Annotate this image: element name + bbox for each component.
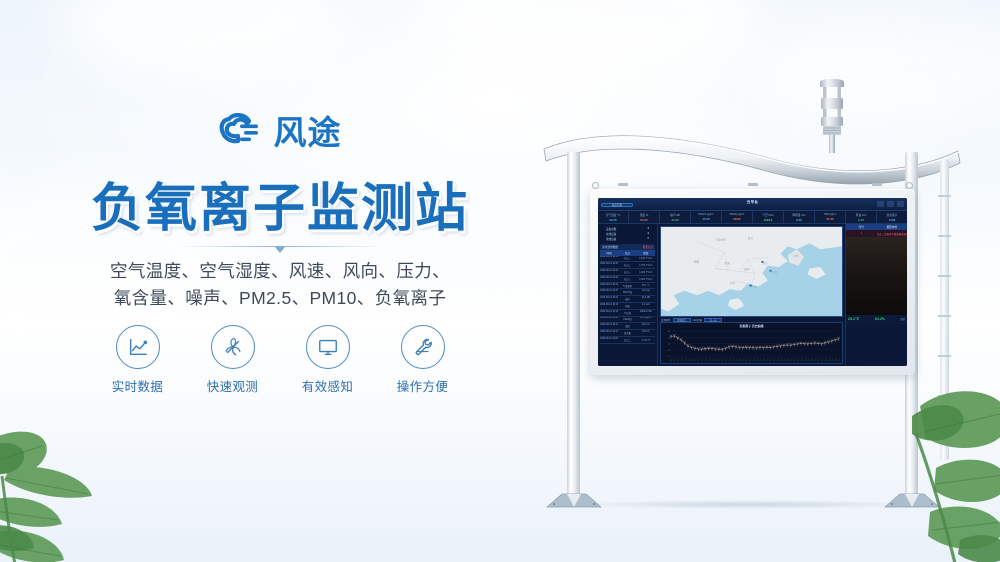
table-row[interactable]: 2023-06-12 10:18风速2.4 m/s	[600, 303, 655, 310]
svg-text:06-12: 06-12	[804, 358, 807, 363]
svg-text:乌鲁木齐: 乌鲁木齐	[715, 238, 726, 242]
svg-text:0: 0	[669, 356, 670, 358]
alert-cell: 站点二 负氧离子数值偏低报警	[877, 230, 908, 236]
video-reading-1: 23.1℃	[848, 317, 859, 321]
table-cell: 2023-06-12 10:18	[600, 303, 618, 309]
svg-text:青海: 青海	[724, 261, 730, 265]
svg-text:50: 50	[668, 343, 670, 345]
subtitle-line-1: 空气温度、空气湿度、风速、风向、压力、	[0, 258, 560, 285]
metric-card[interactable]: 空气温度 ℃23.15	[598, 211, 629, 223]
svg-text:06-12: 06-12	[687, 358, 690, 363]
svg-text:06-12: 06-12	[698, 358, 701, 363]
svg-text:06-12: 06-12	[763, 358, 766, 363]
table-cell: 18.0 μg	[637, 289, 655, 295]
dashboard-title: 云平台	[598, 200, 907, 205]
history-line-chart[interactable]: 负氧离子 历史曲线 100755025006-1206-1206-1206-12…	[660, 322, 843, 364]
kpi-label: 在线设备	[606, 232, 616, 236]
divider-triangle-icon	[275, 247, 285, 253]
svg-text:云南: 云南	[730, 281, 736, 285]
metric-card[interactable]: 湿度 %64.20	[629, 211, 660, 223]
hanger-ring	[592, 182, 599, 189]
metric-card[interactable]: PM10 μg/m³28.00	[722, 211, 753, 223]
toolbar-icon[interactable]	[877, 201, 884, 207]
feature-label: 快速观测	[207, 376, 259, 395]
metric-value: 23.15	[609, 218, 616, 222]
svg-text:日本: 日本	[793, 254, 799, 258]
kpi-label: 设备总数	[606, 227, 616, 231]
table-cell: 2023-06-12 10:08	[600, 337, 618, 343]
alert-cell: 1	[846, 230, 877, 236]
table-row[interactable]: 2023-06-12 10:28站点一1,693 个/cm³	[600, 269, 655, 276]
table-cell: 气压值	[618, 310, 636, 316]
mount-bracket	[748, 183, 758, 186]
table-row[interactable]: 2023-06-12 10:14PM10值28.0 μg/m³	[600, 317, 655, 324]
monitor-screen-icon	[306, 325, 350, 369]
subtitle-line-2: 氧含量、噪声、PM2.5、PM10、负氧离子	[0, 285, 560, 312]
feature-label: 操作方便	[397, 376, 449, 395]
table-row[interactable]: 2023-06-12 10:16气压值1003.2 hPa	[600, 310, 655, 317]
kpi-value: 3	[648, 227, 649, 231]
table-cell: 64.2 %	[637, 323, 655, 329]
kpi-list: 设备总数3在线设备3离线设备0	[600, 226, 655, 242]
metric-value: 17.00	[702, 217, 709, 221]
feature-label: 有效感知	[302, 376, 354, 395]
svg-text:100: 100	[668, 331, 671, 333]
metric-value: 28.00	[733, 217, 740, 221]
table-cell: 2023-06-12 10:24	[600, 283, 618, 289]
metric-name: 湿度 %	[640, 213, 649, 217]
svg-text:06-12: 06-12	[674, 358, 677, 363]
svg-text:06-12: 06-12	[814, 358, 817, 363]
alert-body: 1站点二 负氧离子数值偏低报警	[846, 230, 907, 236]
svg-text:06-12: 06-12	[787, 358, 790, 363]
svg-text:06-12: 06-12	[718, 358, 721, 363]
metric-value: 0.00	[796, 218, 802, 222]
table-caption-text: 实时监测数据	[602, 245, 618, 249]
table-row[interactable]: 2023-06-12 10:10氧含量20.9 %	[600, 330, 655, 337]
table-cell: 2023-06-12 10:26	[600, 276, 618, 282]
kpi-item: 离线设备0	[600, 236, 655, 241]
metric-value: 64.20	[640, 218, 647, 222]
dashboard-toolbar	[877, 201, 904, 207]
svg-text:06-12: 06-12	[756, 358, 759, 363]
table-row[interactable]: 2023-06-12 10:20噪声41.6 dB	[600, 296, 655, 303]
table-cell: 41.6 dB	[637, 296, 655, 302]
table-cell: 2023-06-12 10:32	[600, 256, 618, 262]
rail-notch	[938, 195, 951, 197]
dashboard-header: 站点名称 云平台	[598, 198, 907, 211]
metric-card[interactable]: PM2.5 μg/m³17.00	[691, 211, 722, 223]
brand-name: 风途	[274, 116, 342, 149]
feature-label: 实时数据	[112, 376, 164, 395]
svg-text:广州: 广州	[752, 285, 758, 289]
svg-text:上海: 上海	[771, 270, 777, 274]
table-cell: 站点一	[618, 256, 636, 262]
svg-text:06-12: 06-12	[708, 358, 711, 363]
table-row[interactable]: 2023-06-12 10:32站点一1,876 个/cm³	[600, 256, 655, 263]
metric-card[interactable]: 噪声 dB41.60	[660, 211, 691, 223]
rail-notch	[938, 355, 951, 357]
video-footer: 23.1℃ 64.2% 全屏	[846, 315, 907, 324]
base-plate-icon	[545, 492, 603, 509]
right-panel: 序号报警内容 1站点二 负氧离子数值偏低报警 23.1℃ 64.2% 全屏	[845, 224, 907, 366]
table-body: 2023-06-12 10:32站点一1,876 个/cm³2023-06-12…	[600, 256, 655, 344]
table-cell: 1003.2 hPa	[637, 310, 655, 316]
title-divider	[180, 246, 380, 253]
monitoring-station-product: 站点名称 云平台 空气温度 ℃23.15湿度 %64.20噪声 dB41.60P…	[520, 60, 980, 540]
mount-bracket	[872, 183, 882, 186]
metric-value: 1003.2	[764, 218, 773, 222]
metric-name: 噪声 dB	[670, 213, 679, 217]
line-chart-icon	[116, 325, 160, 369]
brand-lockup: 风途	[0, 112, 560, 152]
left-data-panel: 设备总数3在线设备3离线设备0 实时监测数据 报警信息 时间站点数值 2023-…	[598, 224, 658, 366]
hanger-ring	[906, 182, 913, 189]
rail-notch	[938, 235, 951, 237]
svg-text:06-12: 06-12	[704, 358, 707, 363]
svg-text:06-12: 06-12	[728, 358, 731, 363]
china-map[interactable]: 乌鲁木齐 蒙古 西藏 青海 陕西 北京 上海 云南 广州 日本	[660, 226, 843, 317]
svg-text:06-12: 06-12	[752, 358, 755, 363]
table-row[interactable]: 2023-06-12 10:30站点二1,754 个/cm³	[600, 262, 655, 269]
table-cell: 2023-06-12 10:20	[600, 296, 618, 302]
svg-text:75: 75	[668, 337, 670, 339]
metric-name: PM2.5 μg/m³	[698, 213, 713, 216]
table-cell: 23.1 ℃	[637, 283, 655, 289]
kpi-label: 离线设备	[606, 237, 616, 241]
alert-row[interactable]: 1站点二 负氧离子数值偏低报警	[846, 230, 907, 236]
metric-value: 1736	[889, 218, 895, 222]
hero-subtitle: 空气温度、空气湿度、风速、风向、压力、 氧含量、噪声、PM2.5、PM10、负氧…	[0, 258, 560, 311]
wrench-icon	[401, 325, 445, 369]
svg-text:06-12: 06-12	[725, 358, 728, 363]
svg-text:06-12: 06-12	[824, 358, 827, 363]
svg-text:25: 25	[668, 350, 670, 352]
svg-text:06-12: 06-12	[831, 358, 834, 363]
svg-text:06-12: 06-12	[835, 358, 838, 363]
support-pole-icon	[567, 152, 580, 507]
metric-name: 空气温度 ℃	[606, 213, 621, 217]
metric-value: 37.00	[826, 217, 833, 221]
svg-text:06-12: 06-12	[749, 358, 752, 363]
svg-text:06-12: 06-12	[797, 358, 800, 363]
svg-text:06-12: 06-12	[828, 358, 831, 363]
feature-item-fast-observation[interactable]: 快速观测	[202, 325, 264, 395]
table-cell: 2023-06-12 10:16	[600, 310, 618, 316]
rail-notch	[938, 275, 951, 277]
feature-item-realtime-data[interactable]: 实时数据	[107, 325, 169, 395]
svg-text:06-12: 06-12	[745, 358, 748, 363]
svg-text:06-12: 06-12	[766, 358, 769, 363]
table-cell: PM10值	[618, 317, 636, 323]
svg-text:06-12: 06-12	[769, 358, 772, 363]
svg-text:06-12: 06-12	[739, 358, 742, 363]
table-row[interactable]: 2023-06-12 10:12湿度64.2 %	[600, 323, 655, 330]
metric-value: 2.40	[858, 218, 864, 222]
svg-text:06-12: 06-12	[821, 358, 824, 363]
table-cell: 2.4 m/s	[637, 303, 655, 309]
metric-value: 41.60	[671, 218, 678, 222]
svg-text:06-12: 06-12	[691, 358, 694, 363]
hero-text-panel: 风途 负氧离子监测站 空气温度、空气湿度、风速、风向、压力、 氧含量、噪声、PM…	[0, 0, 560, 562]
metric-strip: 空气温度 ℃23.15湿度 %64.20噪声 dB41.60PM2.5 μg/m…	[598, 211, 907, 224]
svg-text:06-12: 06-12	[715, 358, 718, 363]
table-cell: 20.9 %	[637, 330, 655, 336]
display-screen[interactable]: 站点名称 云平台 空气温度 ℃23.15湿度 %64.20噪声 dB41.60P…	[598, 198, 907, 366]
table-cell: 1,876 个/cm³	[637, 256, 655, 262]
metric-card[interactable]: 风速 m/s2.40	[846, 211, 877, 223]
table-row[interactable]: 2023-06-12 10:24气象要素23.1 ℃	[600, 283, 655, 290]
filter-select-1[interactable]: 负氧离子	[673, 318, 691, 322]
table-cell: 1,602 个/cm³	[637, 276, 655, 282]
svg-text:06-12: 06-12	[742, 358, 745, 363]
metric-name: 负氧离子	[887, 213, 898, 217]
monitoring-dashboard: 站点名称 云平台 空气温度 ℃23.15湿度 %64.20噪声 dB41.60P…	[598, 198, 907, 366]
metric-name: 降雨量 mm	[792, 213, 805, 217]
feature-item-easy-operation[interactable]: 操作方便	[392, 325, 454, 395]
svg-text:06-12: 06-12	[811, 358, 814, 363]
svg-text:06-12: 06-12	[711, 358, 714, 363]
radar-signal-icon	[211, 325, 255, 369]
metric-name: 风速 m/s	[856, 213, 866, 217]
toolbar-icon[interactable]	[897, 201, 904, 207]
svg-text:06-12: 06-12	[677, 358, 680, 363]
dashboard-body: 设备总数3在线设备3离线设备0 实时监测数据 报警信息 时间站点数值 2023-…	[598, 224, 907, 366]
svg-text:06-12: 06-12	[759, 358, 762, 363]
table-row[interactable]: 2023-06-12 10:26站点三1,602 个/cm³	[600, 276, 655, 283]
svg-text:06-12: 06-12	[783, 358, 786, 363]
svg-text:蒙古: 蒙古	[748, 236, 754, 240]
display-bezel: 站点名称 云平台 空气温度 ℃23.15湿度 %64.20噪声 dB41.60P…	[590, 189, 915, 375]
table-cell: 1,754 个/cm³	[637, 262, 655, 268]
svg-text:06-12: 06-12	[694, 358, 697, 363]
metric-name: TSP μg/m³	[824, 213, 837, 216]
center-panel: 乌鲁木齐 蒙古 西藏 青海 陕西 北京 上海 云南 广州 日本	[658, 224, 845, 366]
svg-text:06-12: 06-12	[817, 358, 820, 363]
svg-text:06-12: 06-12	[838, 358, 841, 363]
kpi-value: 3	[648, 232, 649, 236]
metric-card[interactable]: 负氧离子1736	[877, 211, 907, 223]
svg-text:06-12: 06-12	[701, 358, 704, 363]
svg-text:西藏: 西藏	[694, 260, 700, 264]
wave-canopy-icon	[542, 127, 962, 189]
svg-text:06-12: 06-12	[735, 358, 738, 363]
filter-label-2: 时间范围	[693, 318, 703, 322]
svg-text:06-12: 06-12	[773, 358, 776, 363]
feature-item-effective-sensing[interactable]: 有效感知	[297, 325, 359, 395]
ground-shadow	[570, 500, 925, 509]
cloud-wind-logo-icon	[219, 112, 265, 152]
table-cell: 2023-06-12 10:30	[600, 262, 618, 268]
svg-text:06-12: 06-12	[670, 358, 673, 363]
svg-text:06-12: 06-12	[680, 358, 683, 363]
metric-card[interactable]: 气压 hPa1003.2	[753, 211, 784, 223]
filter-select-2[interactable]: 近一天	[704, 318, 722, 322]
support-rail	[940, 160, 949, 460]
table-cell: 站点一	[618, 269, 636, 275]
svg-text:06-12: 06-12	[776, 358, 779, 363]
video-feed[interactable]	[846, 237, 907, 315]
svg-text:06-12: 06-12	[684, 358, 687, 363]
svg-text:06-12: 06-12	[807, 358, 810, 363]
table-cell: 噪声	[618, 296, 636, 302]
page-title: 负氧离子监测站	[0, 166, 560, 241]
table-cell: 气象要素	[618, 283, 636, 289]
mount-bracket	[618, 183, 628, 186]
kpi-value: 0	[648, 237, 649, 241]
table-cell: 站点三	[618, 276, 636, 282]
rail-notch	[938, 315, 951, 317]
table-cell: 2023-06-12 10:14	[600, 317, 618, 323]
table-caption-status: 报警信息	[643, 245, 653, 249]
table-cell: PM2.5值	[618, 289, 636, 295]
toolbar-icon[interactable]	[887, 201, 894, 207]
table-cell: 2023-06-12 10:28	[600, 269, 618, 275]
table-row[interactable]: 2023-06-12 10:22PM2.5值18.0 μg	[600, 289, 655, 296]
table-cell: 风速	[618, 303, 636, 309]
metric-name: 气压 hPa	[763, 213, 774, 217]
table-row[interactable]: 2023-06-12 10:08站点二1,712 个	[600, 337, 655, 344]
metric-card[interactable]: 降雨量 mm0.00	[784, 211, 815, 223]
rail-notch	[938, 395, 951, 397]
metric-card[interactable]: TSP μg/m³37.00	[815, 211, 846, 223]
metric-name: PM10 μg/m³	[730, 213, 745, 216]
svg-text:06-12: 06-12	[793, 358, 796, 363]
table-cell: 1,712 个	[637, 337, 655, 343]
table-cell: 2023-06-12 10:22	[600, 289, 618, 295]
svg-text:06-12: 06-12	[790, 358, 793, 363]
table-cell: 氧含量	[618, 330, 636, 336]
video-fullscreen-button[interactable]: 全屏	[900, 317, 905, 321]
table-cell: 站点二	[618, 262, 636, 268]
video-reading-2: 64.2%	[875, 317, 885, 321]
table-cell: 2023-06-12 10:10	[600, 330, 618, 336]
filter-label-1: 监测要素	[661, 318, 671, 322]
feature-list: 实时数据 快速观测	[0, 325, 560, 395]
table-cell: 站点二	[618, 337, 636, 343]
table-cell: 2023-06-12 10:12	[600, 323, 618, 329]
svg-text:06-12: 06-12	[721, 358, 724, 363]
table-cell: 湿度	[618, 323, 636, 329]
table-cell: 28.0 μg/m³	[637, 317, 655, 323]
table-cell: 1,693 个/cm³	[637, 269, 655, 275]
svg-text:陕西: 陕西	[744, 267, 750, 271]
svg-text:06-12: 06-12	[780, 358, 783, 363]
svg-text:06-12: 06-12	[732, 358, 735, 363]
base-plate-icon	[883, 492, 941, 509]
svg-text:06-12: 06-12	[800, 358, 803, 363]
